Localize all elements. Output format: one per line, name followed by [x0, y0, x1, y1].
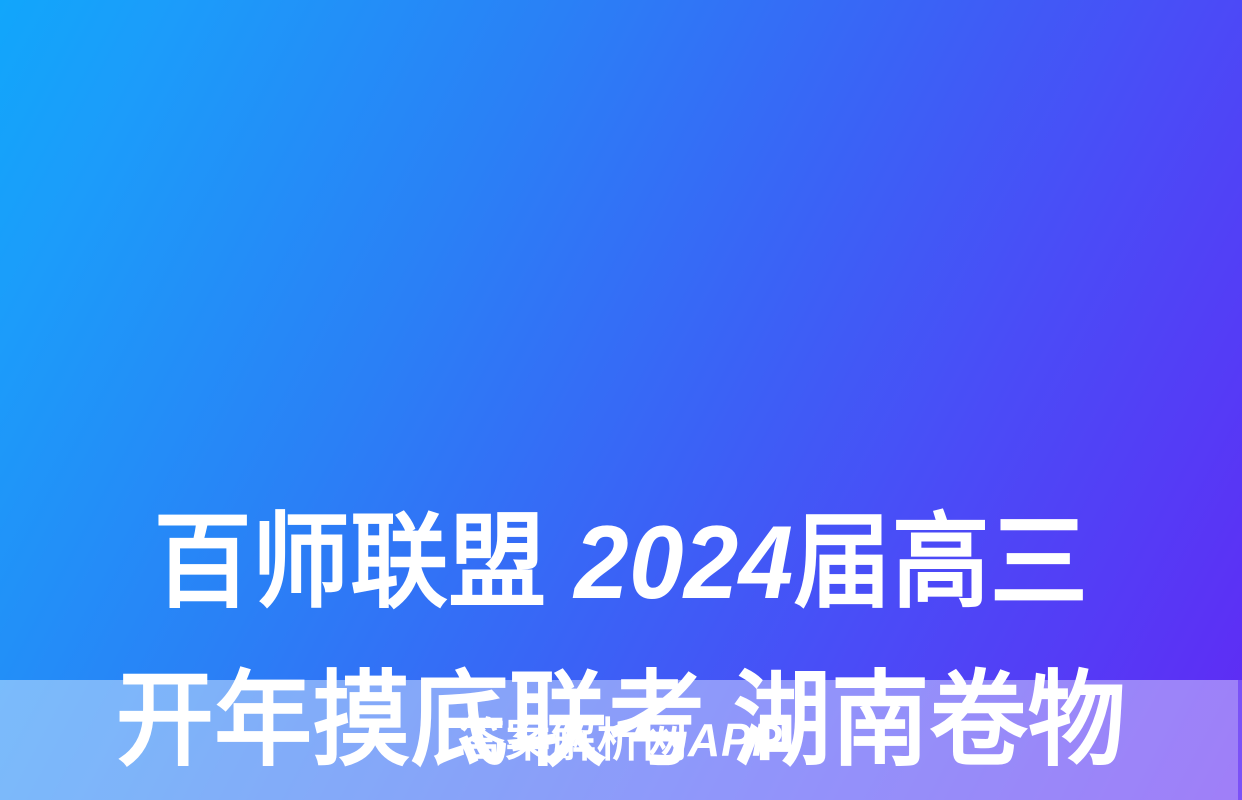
band-right-edge-strip: [1238, 680, 1242, 800]
app-watermark-label: 答案解析网APP: [460, 717, 783, 763]
poster-canvas: 百师联盟 2024届高三开年摸底联考 湖南卷物理答案 答案解析网APP: [0, 0, 1242, 800]
watermark-band: 答案解析网APP: [0, 680, 1242, 800]
